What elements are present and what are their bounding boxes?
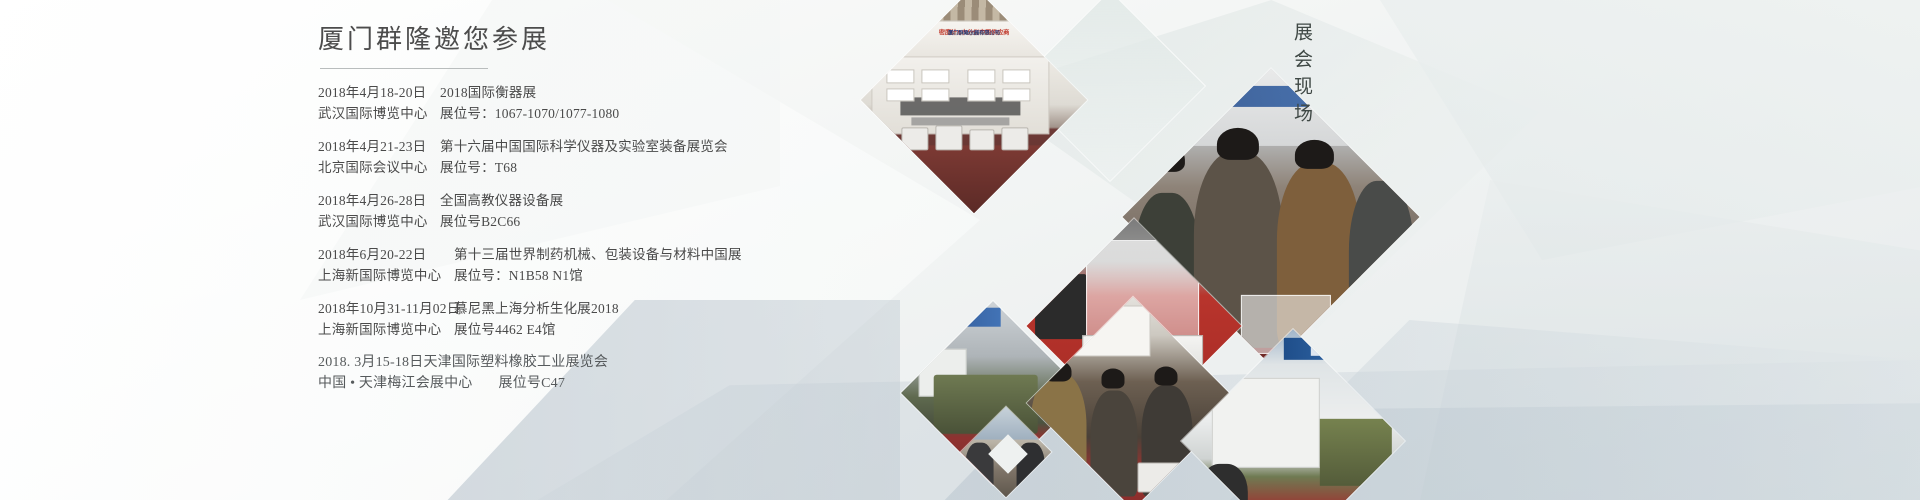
exhibition-entry-1: 2018年4月18-20日 2018国际衡器展 武汉国际博览中心 展位号：106… xyxy=(318,82,1078,124)
exhibition-date: 2018年6月20-22日 xyxy=(318,244,454,265)
exhibition-name: 慕尼黑上海分析生化展2018 xyxy=(454,298,619,319)
exhibition-date: 2018年10月31-11月02日 xyxy=(318,298,454,319)
exhibition-booth: 展位号：1067-1070/1077-1080 xyxy=(440,103,619,124)
banner-stage: 厦门群隆邀您参展 2018年4月18-20日 2018国际衡器展 武汉国际博览中… xyxy=(0,0,1920,500)
exhibition-entry-5-line-1: 2018年10月31-11月02日 慕尼黑上海分析生化展2018 xyxy=(318,298,1078,319)
visitor-head xyxy=(1366,142,1402,169)
exhibition-entry-4-line-1: 2018年6月20-22日 第十三届世界制药机械、包装设备与材料中国展 xyxy=(318,244,1078,265)
exhibition-date: 2018年4月26-28日 xyxy=(318,190,440,211)
exhibition-entry-5-line-2: 上海新国际博览中心 展位号4462 E4馆 xyxy=(318,319,1078,340)
visitor-head xyxy=(1154,367,1177,386)
exhibition-venue: 中国 • 天津梅江会展中心 xyxy=(318,373,473,394)
exhibition-entry-3-line-2: 武汉国际博览中心 展位号B2C66 xyxy=(318,211,1078,232)
exhibition-booth: 展位号C47 xyxy=(499,373,566,394)
exhibition-name: 第十六届中国国际科学仪器及实验室装备展览会 xyxy=(440,136,728,157)
exhibition-name: 2018国际衡器展 xyxy=(440,82,536,103)
exhibition-date: 2018. 3月15-18日天津国际塑料橡胶工业展览会 xyxy=(318,352,608,373)
page-title: 厦门群隆邀您参展 xyxy=(318,22,1078,66)
exhibition-entry-2: 2018年4月21-23日 第十六届中国国际科学仪器及实验室装备展览会 北京国际… xyxy=(318,136,1078,178)
exhibition-entry-1-line-2: 武汉国际博览中心 展位号：1067-1070/1077-1080 xyxy=(318,103,1078,124)
exhibition-name: 全国高教仪器设备展 xyxy=(440,190,563,211)
exhibition-entry-6: 2018. 3月15-18日天津国际塑料橡胶工业展览会 中国 • 天津梅江会展中… xyxy=(318,352,1078,394)
exhibition-entry-2-line-1: 2018年4月21-23日 第十六届中国国际科学仪器及实验室装备展览会 xyxy=(318,136,1078,157)
exhibition-booth: 展位号：T68 xyxy=(440,157,517,178)
staff-figure xyxy=(1199,463,1248,500)
exhibition-venue: 上海新国际博览中心 xyxy=(318,319,454,340)
exhibition-entry-3: 2018年4月26-28日 全国高教仪器设备展 武汉国际博览中心 展位号B2C6… xyxy=(318,190,1078,232)
instrument-unit xyxy=(1137,463,1184,493)
booth-logo xyxy=(1311,340,1369,356)
exhibition-entry-6-line-1: 2018. 3月15-18日天津国际塑料橡胶工业展览会 xyxy=(318,352,1078,373)
exhibition-venue: 北京国际会议中心 xyxy=(318,157,440,178)
exhibition-entry-5: 2018年10月31-11月02日 慕尼黑上海分析生化展2018 上海新国际博览… xyxy=(318,298,1078,340)
exhibition-booth: 展位号：N1B58 N1馆 xyxy=(454,265,583,286)
exhibition-name: 第十三届世界制药机械、包装设备与材料中国展 xyxy=(454,244,742,265)
exhibition-booth: 展位号B2C66 xyxy=(440,211,520,232)
visitor-head xyxy=(1101,369,1124,388)
exhibition-entry-1-line-1: 2018年4月18-20日 2018国际衡器展 xyxy=(318,82,1078,103)
person-figure xyxy=(966,443,993,492)
collage-photo-instrument-booth xyxy=(1181,329,1404,500)
exhibition-venue: 上海新国际博览中心 xyxy=(318,265,454,286)
visitor-head xyxy=(1152,145,1185,172)
exhibition-entry-4-line-2: 上海新国际博览中心 展位号：N1B58 N1馆 xyxy=(318,265,1078,286)
exhibition-booth: 展位号4462 E4馆 xyxy=(454,319,556,340)
title-underline-divider xyxy=(320,68,488,69)
exhibition-entry-2-line-2: 北京国际会议中心 展位号：T68 xyxy=(318,157,1078,178)
visitor-head xyxy=(1217,128,1259,161)
ceiling-texture xyxy=(861,0,1087,23)
exhibition-venue: 武汉国际博览中心 xyxy=(318,103,440,124)
section-vertical-title: 展会现场 xyxy=(1288,22,1315,130)
exhibition-venue: 武汉国际博览中心 xyxy=(318,211,440,232)
exhibition-entry-6-line-2: 中国 • 天津梅江会展中心 展位号C47 xyxy=(318,373,1078,394)
exhibition-info-panel: 厦门群隆邀您参展 2018年4月18-20日 2018国际衡器展 武汉国际博览中… xyxy=(318,22,1078,406)
visitor-figure xyxy=(1349,181,1415,348)
visitor-head xyxy=(1295,139,1334,169)
exhibition-date: 2018年4月18-20日 xyxy=(318,82,440,103)
machinery-unit xyxy=(1320,419,1392,486)
visitor-figure xyxy=(1090,390,1137,497)
exhibition-date: 2018年4月21-23日 xyxy=(318,136,440,157)
exhibition-entry-3-line-1: 2018年4月26-28日 全国高教仪器设备展 xyxy=(318,190,1078,211)
photo-content xyxy=(1181,329,1404,500)
booth-signage xyxy=(1284,338,1396,360)
exhibition-entry-4: 2018年6月20-22日 第十三届世界制药机械、包装设备与材料中国展 上海新国… xyxy=(318,244,1078,286)
